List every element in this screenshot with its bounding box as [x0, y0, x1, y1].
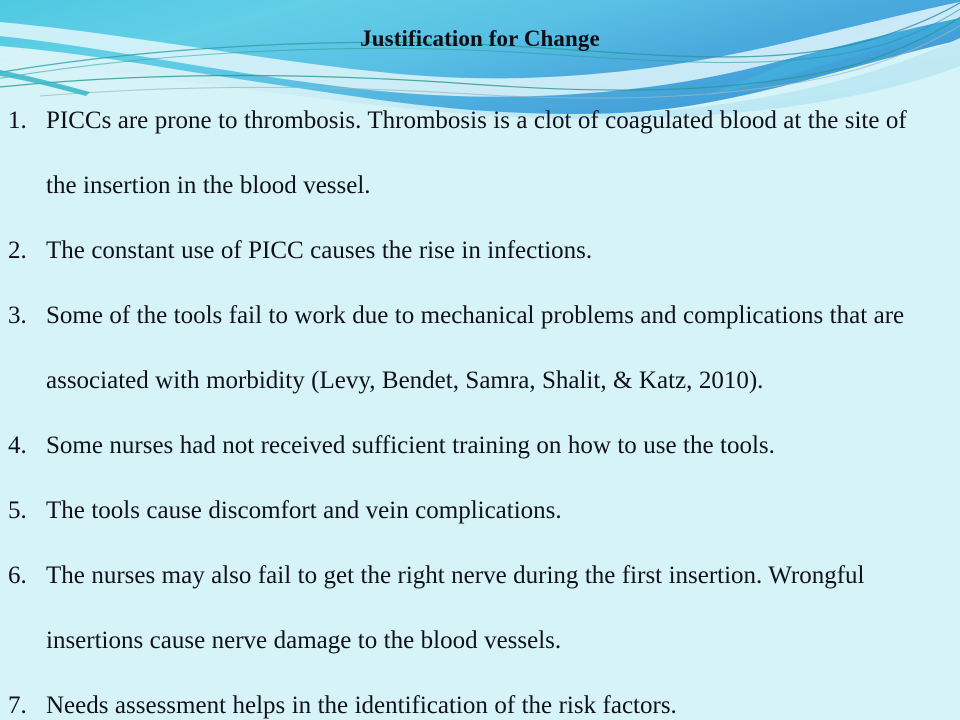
list-item-number: 2. [8, 218, 46, 283]
list-item: 4. Some nurses had not received sufficie… [0, 413, 960, 478]
list-item-number: 4. [8, 413, 46, 478]
presentation-slide: Justification for Change 1. PICCs are pr… [0, 0, 960, 720]
list-item-text: PICCs are prone to thrombosis. Thrombosi… [46, 88, 942, 218]
list-item: 2. The constant use of PICC causes the r… [0, 218, 960, 283]
list-item: 1. PICCs are prone to thrombosis. Thromb… [0, 88, 960, 218]
list-item-text: The constant use of PICC causes the rise… [46, 218, 942, 283]
list-item-text: The tools cause discomfort and vein comp… [46, 478, 942, 543]
list-item: 5. The tools cause discomfort and vein c… [0, 478, 960, 543]
list-item: 6. The nurses may also fail to get the r… [0, 543, 960, 673]
list-item-number: 5. [8, 478, 46, 543]
list-item-number: 7. [8, 673, 46, 720]
list-item: 7. Needs assessment helps in the identif… [0, 673, 960, 720]
numbered-list: 1. PICCs are prone to thrombosis. Thromb… [0, 88, 960, 720]
list-item-number: 3. [8, 283, 46, 348]
list-item: 3. Some of the tools fail to work due to… [0, 283, 960, 413]
list-item-number: 6. [8, 543, 46, 608]
list-item-text: Some of the tools fail to work due to me… [46, 283, 942, 413]
list-item-number: 1. [8, 88, 46, 153]
list-item-text: The nurses may also fail to get the righ… [46, 543, 942, 673]
slide-title: Justification for Change [0, 26, 960, 51]
list-item-text: Some nurses had not received sufficient … [46, 413, 942, 478]
list-item-text: Needs assessment helps in the identifica… [46, 673, 942, 720]
